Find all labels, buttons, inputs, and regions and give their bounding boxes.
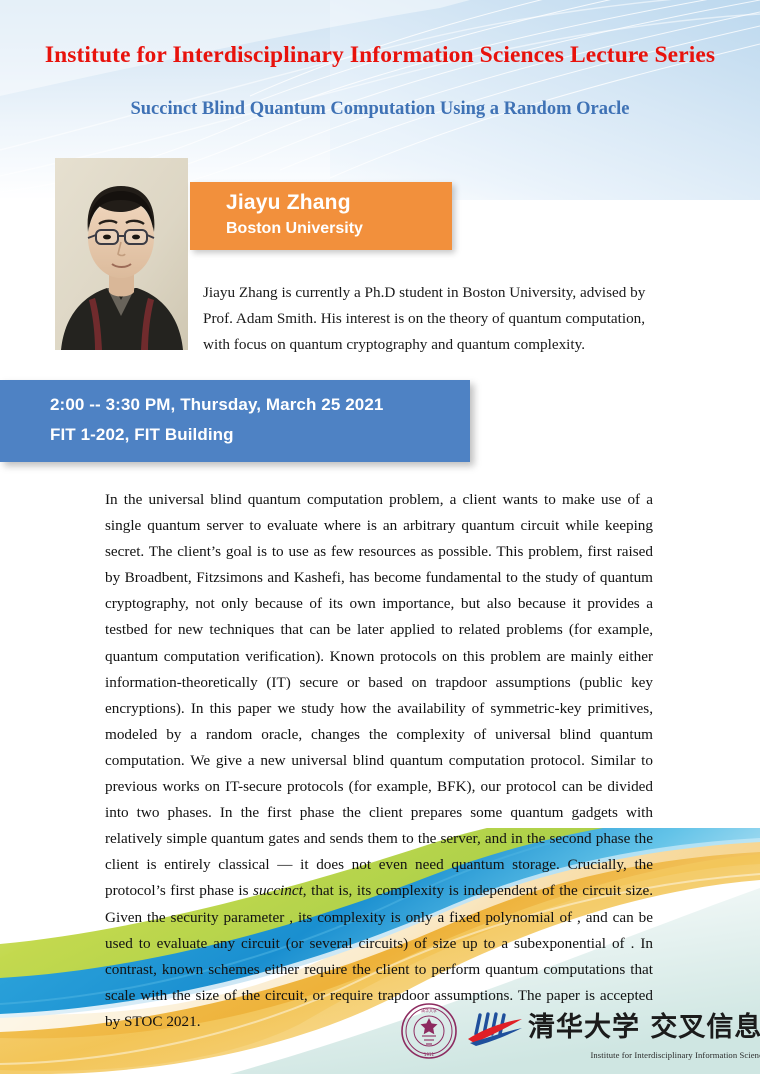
event-time: 2:00 -- 3:30 PM, Thursday, March 25 2021 [50, 395, 383, 415]
speaker-affiliation: Boston University [226, 220, 363, 238]
portrait-illustration [55, 158, 188, 350]
speaker-name-card: Jiayu Zhang Boston University [190, 182, 452, 250]
svg-text:清华大学: 清华大学 [421, 1007, 437, 1013]
lecture-poster: Institute for Interdisciplinary Informat… [0, 0, 760, 1074]
abstract-italic-term: succinct [253, 882, 303, 899]
page-title: Institute for Interdisciplinary Informat… [0, 42, 760, 69]
event-details-banner: 2:00 -- 3:30 PM, Thursday, March 25 2021… [0, 380, 470, 462]
abstract-text: In the universal blind quantum computati… [105, 487, 653, 1035]
tsinghua-seal-icon: 清华大学 1911 [400, 1002, 458, 1060]
speaker-bio: Jiayu Zhang is currently a Ph.D student … [203, 280, 655, 358]
iiis-swoosh-icon [466, 1008, 524, 1048]
svg-text:1911: 1911 [424, 1052, 435, 1057]
institute-name-cn: 清华大学 交叉信息研究院 [528, 1013, 760, 1043]
speaker-photo [55, 158, 188, 350]
event-venue: FIT 1-202, FIT Building [50, 425, 234, 445]
institute-name-en: Institute for Interdisciplinary Informat… [466, 1050, 760, 1060]
speaker-name: Jiayu Zhang [226, 191, 351, 215]
footer-logo-group: 清华大学 1911 清华大学 交叉信息研究院 Institute [400, 1002, 760, 1060]
abstract-part-1: In the universal blind quantum computati… [105, 491, 653, 899]
talk-title: Succinct Blind Quantum Computation Using… [0, 99, 760, 120]
